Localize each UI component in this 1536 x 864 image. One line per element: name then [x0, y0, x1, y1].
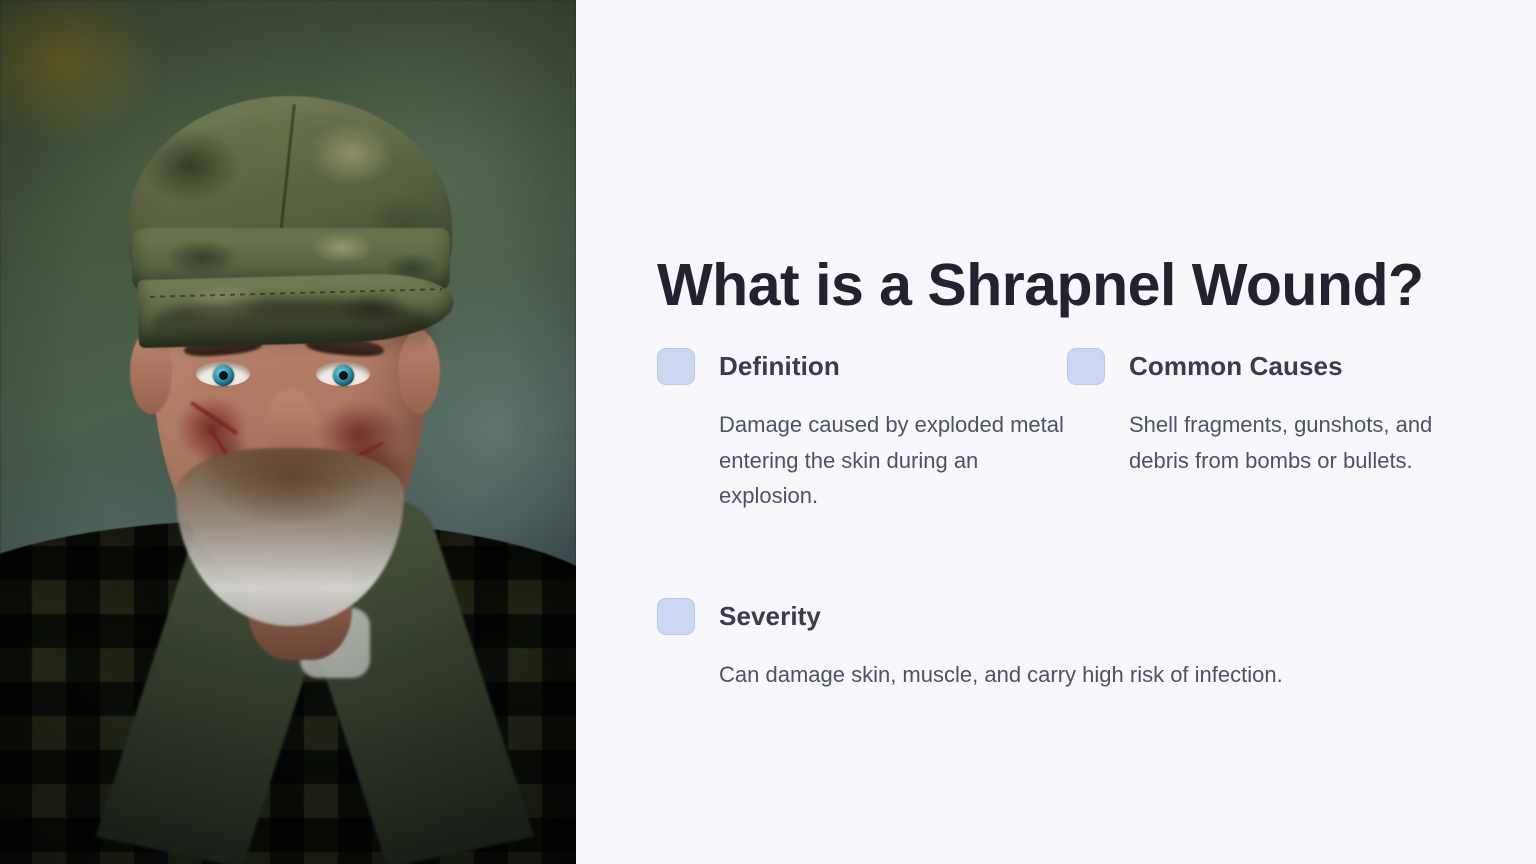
page-title: What is a Shrapnel Wound? [657, 254, 1457, 318]
key-point-header: Severity [657, 598, 1447, 635]
key-points-grid: Definition Damage caused by exploded met… [657, 348, 1447, 715]
key-point-body: Shell fragments, gunshots, and debris fr… [1129, 407, 1447, 478]
bullet-square-icon [657, 348, 695, 385]
key-point-body: Damage caused by exploded metal entering… [719, 407, 1067, 514]
key-point-title: Common Causes [1129, 352, 1343, 381]
key-point-header: Definition [657, 348, 1067, 385]
bullet-square-icon [1067, 348, 1105, 385]
content-panel: What is a Shrapnel Wound? Definition Dam… [576, 0, 1536, 864]
key-point-common-causes: Common Causes Shell fragments, gunshots,… [1067, 348, 1447, 536]
key-point-title: Definition [719, 352, 840, 381]
bullet-square-icon [657, 598, 695, 635]
photo-vignette [0, 0, 576, 864]
key-point-severity: Severity Can damage skin, muscle, and ca… [657, 598, 1447, 715]
key-point-title: Severity [719, 602, 821, 631]
key-point-header: Common Causes [1067, 348, 1447, 385]
key-point-body: Can damage skin, muscle, and carry high … [719, 657, 1447, 693]
soldier-portrait-image [0, 0, 576, 864]
slide: What is a Shrapnel Wound? Definition Dam… [0, 0, 1536, 864]
key-point-definition: Definition Damage caused by exploded met… [657, 348, 1067, 536]
